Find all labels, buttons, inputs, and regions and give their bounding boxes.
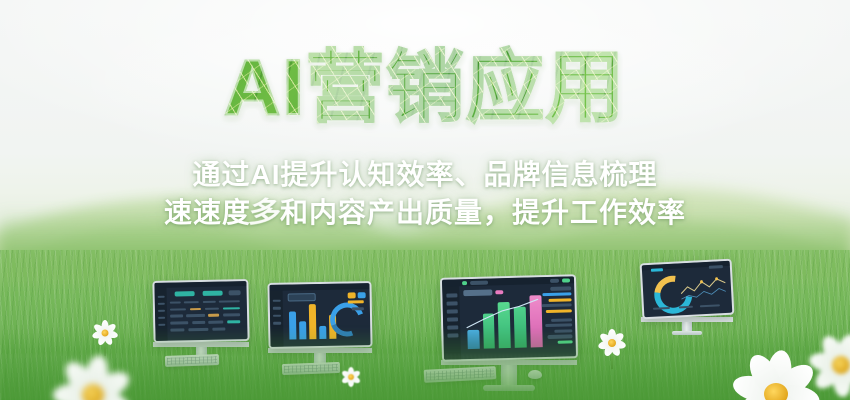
page-title: AI营销应用 [0,44,850,130]
subtitle-line-2: 速速度多和内容产出质量，提升工作效率 [0,194,850,232]
screen-nav-item [470,281,489,285]
screen-badge-2 [358,292,366,298]
monitor-right[interactable] [641,261,733,335]
subtitle-line-2-part-a: 速速度 [164,197,251,228]
subtitle-line-1: 通过AI提升认知效率、品牌信息梳理 [0,156,850,194]
screen-badge [348,292,356,298]
screen-search-field [288,293,316,302]
subtitle-line-2-part-b: 和内容产出质量，提升工作效率 [280,197,686,228]
subtitle-line-2-glitch-glyph: 多 [247,194,285,232]
daisy-mid [340,366,362,388]
screen-topbar [269,283,369,290]
screen-button-tertiary [228,290,241,295]
screen-topbar [154,281,246,288]
screen-title-block [463,290,492,296]
daisy-far-left [90,318,120,348]
daisy-center-right [597,328,627,358]
daisy-front-left [50,352,136,400]
line-chart [679,273,728,302]
screen-button-primary [175,291,195,297]
daisy-far-right [806,330,850,400]
ai-marketing-banner: AI营销应用 通过AI提升认知效率、品牌信息梳理 速速度多和内容产出质量，提升工… [0,0,850,400]
monitor-right-screen [640,259,735,320]
screen-button-secondary [202,291,222,297]
